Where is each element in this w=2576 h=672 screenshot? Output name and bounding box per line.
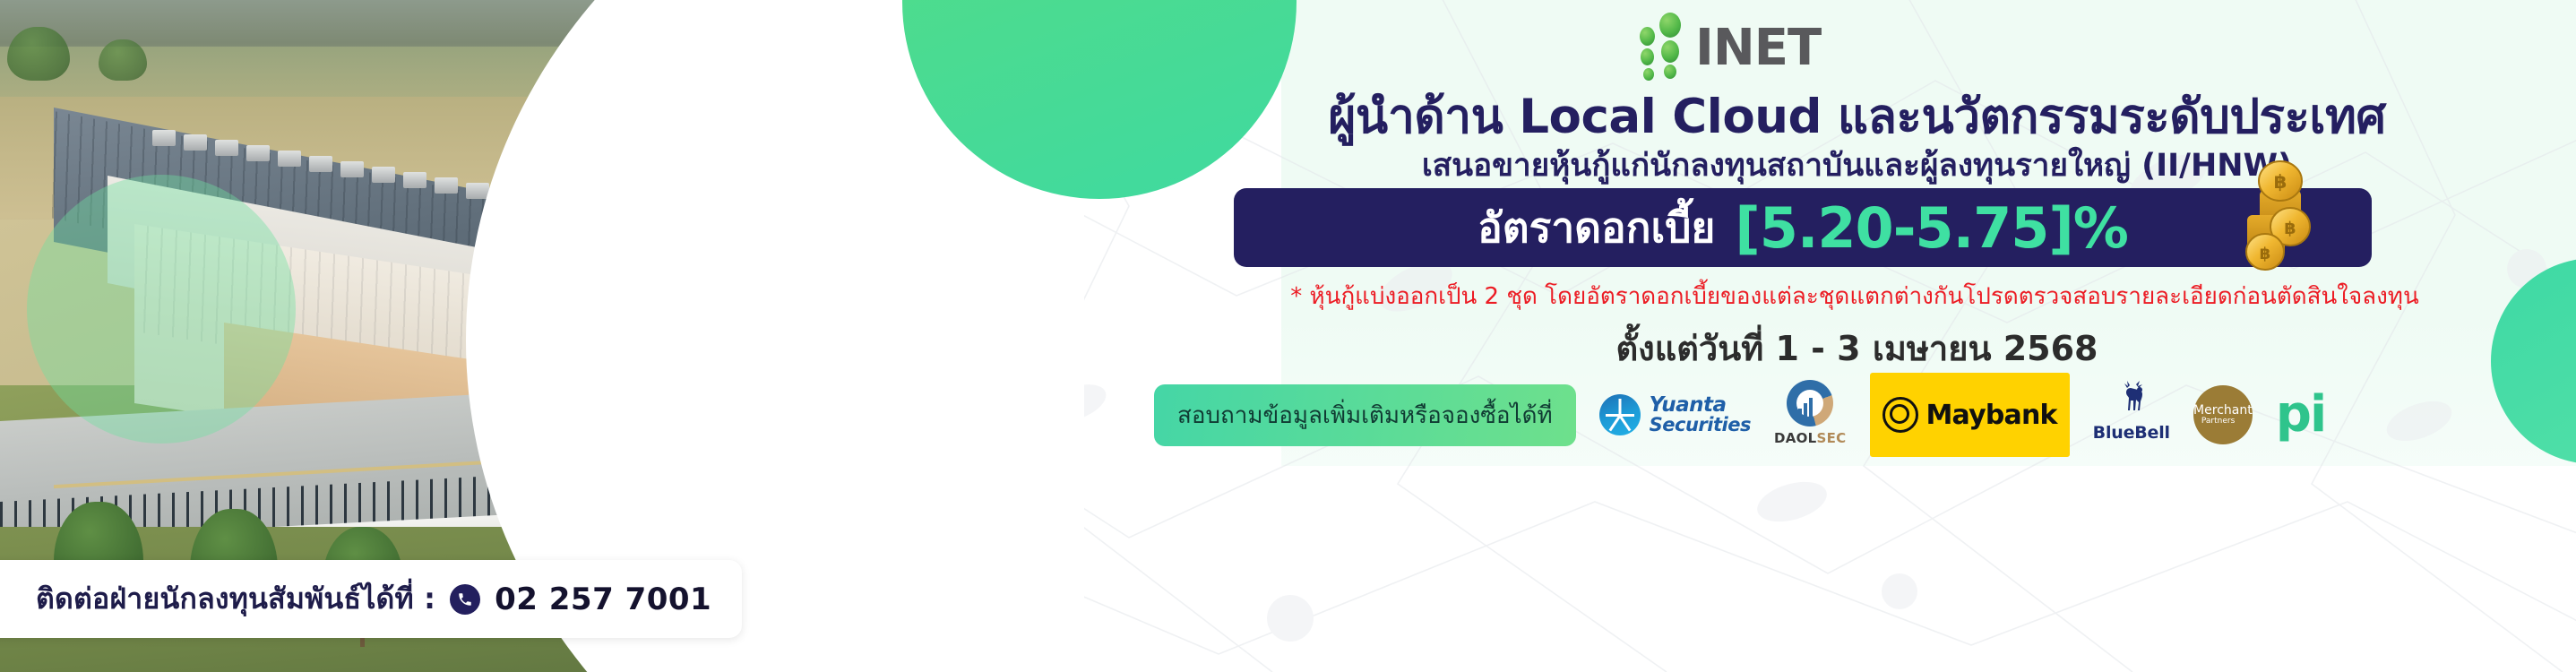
maybank-tiger-icon [1882, 397, 1918, 433]
daol-bars-icon [1798, 398, 1813, 418]
merchant-word2: Partners [2201, 418, 2235, 426]
inet-logo: INET [1640, 13, 1821, 72]
daol-word2: SEC [1817, 430, 1847, 446]
pi-logo-icon: pi [2276, 395, 2325, 435]
partner-logo-merchant[interactable]: Merchant Partners [2193, 380, 2253, 450]
daol-circle-icon [1787, 380, 1833, 426]
contact-label: ติดต่อฝ่ายนักลงทุนสัมพันธ์ได้ที่ : [36, 576, 435, 622]
daol-word: DAOL [1774, 430, 1817, 446]
merchant-word: Merchant [2193, 404, 2253, 418]
decorative-circle-left [27, 175, 296, 444]
contact-phone-number: 02 257 7001 [495, 582, 711, 617]
investor-relations-contact: ติดต่อฝ่ายนักลงทุนสัมพันธ์ได้ที่ : 02 25… [0, 560, 742, 638]
yuanta-line1: Yuanta [1650, 395, 1751, 416]
svg-text:฿: ฿ [2260, 245, 2271, 263]
content-column: INET ผู้นำด้าน Local Cloud และนวัตกรรมระ… [1138, 0, 2576, 672]
partner-logo-bluebell[interactable]: BlueBell [2093, 380, 2170, 450]
bluebell-deer-icon [2112, 380, 2151, 421]
partner-logo-maybank[interactable]: Maybank [1870, 373, 2070, 457]
inet-dots-logo [1640, 13, 1690, 72]
partner-logo-pi[interactable]: pi [2276, 380, 2325, 450]
phone-icon [450, 584, 480, 615]
inet-logo-text: INET [1695, 25, 1821, 72]
svg-text:฿: ฿ [2284, 219, 2296, 238]
more-info-button[interactable]: สอบถามข้อมูลเพิ่มเติมหรือจองซื้อได้ที่ [1154, 384, 1576, 446]
maybank-wordmark: Maybank [1926, 400, 2057, 431]
yuanta-line2: Securities [1650, 416, 1751, 435]
yuanta-wordmark: Yuanta Securities [1650, 395, 1751, 435]
gold-coins-icon: ฿ ฿ ฿ [2195, 159, 2312, 276]
interest-rate-label: อัตราดอกเบี้ย [1478, 195, 1715, 261]
partner-logos: Yuanta Securities DAOLSEC [1599, 373, 2326, 457]
partner-logo-yuanta[interactable]: Yuanta Securities [1599, 380, 1751, 450]
yuanta-star-icon [1599, 394, 1641, 435]
daol-wordmark: DAOLSEC [1774, 430, 1847, 446]
svg-text:฿: ฿ [2274, 171, 2287, 193]
merchant-circle-icon: Merchant Partners [2193, 385, 2253, 444]
bluebell-wordmark: BlueBell [2093, 423, 2170, 443]
bottom-strip: สอบถามข้อมูลเพิ่มเติมหรือจองซื้อได้ที่ Y… [1138, 375, 2576, 455]
promo-banner: ติดต่อฝ่ายนักลงทุนสัมพันธ์ได้ที่ : 02 25… [0, 0, 2576, 672]
disclaimer-text: * หุ้นกู้แบ่งออกเป็น 2 ชุด โดยอัตราดอกเบ… [1062, 278, 2576, 314]
partner-logo-daol[interactable]: DAOLSEC [1774, 380, 1847, 450]
interest-rate-value: [5.20-5.75]% [1735, 195, 2127, 261]
page-subtitle: เสนอขายหุ้นกู้แก่นักลงทุนสถาบันและผู้ลงท… [1138, 141, 2576, 190]
offer-dates: ตั้งแต่วันที่ 1 - 3 เมษายน 2568 [1138, 321, 2576, 375]
